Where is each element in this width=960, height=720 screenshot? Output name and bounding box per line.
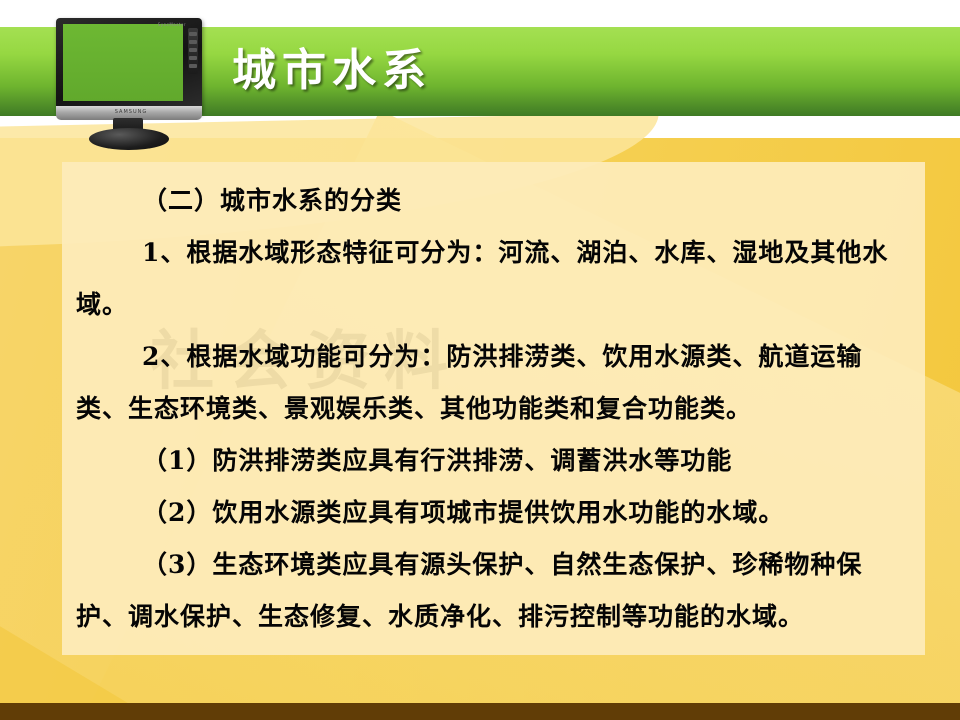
- content-heading: （二）城市水系的分类: [76, 175, 906, 227]
- content-sub-item-3: （3）生态环境类应具有源头保护、自然生态保护、珍稀物种保护、调水保护、生态修复、…: [76, 539, 911, 643]
- lcd-monitor-icon: SyncMaster SAMSUNG: [56, 18, 206, 140]
- content-item-1: 1、根据水域形态特征可分为：河流、湖泊、水库、湿地及其他水域。: [76, 227, 911, 331]
- monitor-screen: [63, 24, 183, 101]
- content-sub-item-2: （2）饮用水源类应具有项城市提供饮用水功能的水域。: [76, 487, 911, 539]
- monitor-power-button: [189, 64, 197, 68]
- monitor-button-4: [189, 56, 197, 60]
- bottom-accent-bar: [0, 703, 960, 720]
- slide-title: 城市水系: [232, 38, 652, 104]
- monitor-stand-base: [89, 128, 169, 150]
- monitor-button-1: [189, 32, 197, 36]
- monitor-brand-label: SAMSUNG: [115, 109, 147, 115]
- content-sub-item-1: （1）防洪排涝类应具有行洪排涝、调蓄洪水等功能: [76, 435, 911, 487]
- monitor-button-2: [189, 40, 197, 44]
- monitor-button-3: [189, 48, 197, 52]
- monitor-bezel: SyncMaster: [56, 18, 202, 114]
- content-item-2: 2、根据水域功能可分为：防洪排涝类、饮用水源类、航道运输类、生态环境类、景观娱乐…: [76, 331, 911, 435]
- presentation-slide: 城市水系 SyncMaster SAMSUNG 社会资料 （二）城市水系的分类 …: [0, 0, 960, 720]
- monitor-model-label: SyncMaster: [158, 22, 186, 27]
